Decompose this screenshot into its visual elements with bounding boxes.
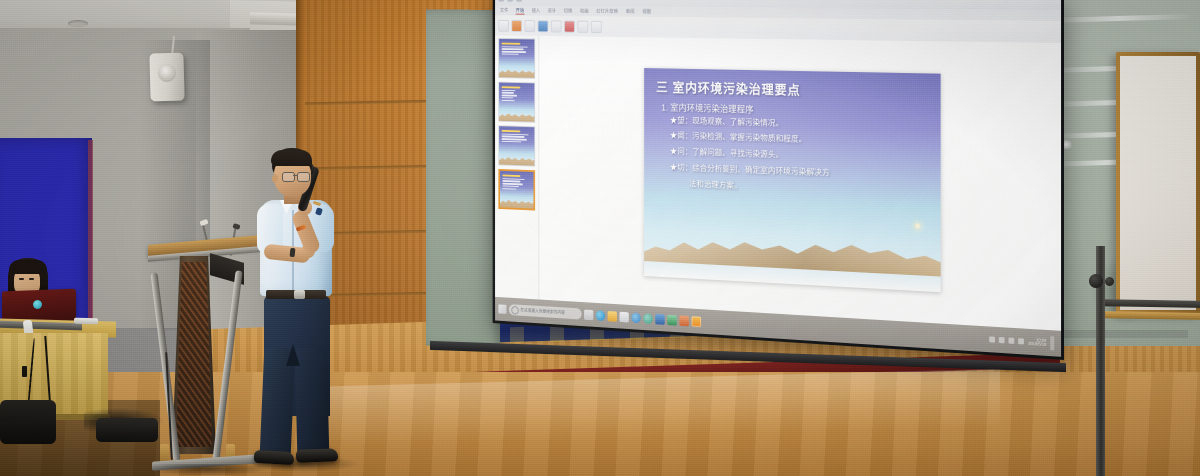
search-icon bbox=[511, 306, 518, 315]
excel-icon[interactable] bbox=[667, 314, 676, 325]
powerpoint-icon[interactable] bbox=[679, 315, 689, 326]
presenter-shoe-left bbox=[254, 450, 295, 465]
font-button[interactable] bbox=[538, 20, 549, 32]
equipment-bag bbox=[0, 400, 56, 444]
mobile-whiteboard[interactable] bbox=[1116, 52, 1200, 314]
search-input[interactable]: 在这里输入你要搜索的内容 bbox=[509, 304, 582, 320]
app-icon[interactable] bbox=[643, 313, 652, 324]
edge-icon[interactable] bbox=[596, 310, 605, 321]
search-placeholder: 在这里输入你要搜索的内容 bbox=[520, 307, 565, 315]
tab-insert[interactable]: 插入 bbox=[532, 7, 541, 13]
store-icon[interactable] bbox=[619, 311, 628, 322]
operator-hairline bbox=[9, 260, 47, 274]
screen-unlit-area bbox=[426, 9, 500, 350]
thumbnail-text bbox=[502, 175, 531, 191]
slide-subtitle: 1. 室内环境污染治理程序 bbox=[661, 100, 753, 116]
thumbnail-text bbox=[502, 86, 532, 101]
floor-equipment bbox=[96, 418, 158, 442]
thumbnail-mountain-graphic bbox=[499, 110, 534, 122]
volume-icon[interactable] bbox=[1009, 338, 1015, 344]
slide-thumbnail[interactable] bbox=[498, 125, 535, 166]
new-slide-button[interactable] bbox=[511, 20, 522, 32]
word-icon[interactable] bbox=[655, 313, 664, 324]
presenter-shoe-right bbox=[296, 448, 338, 462]
glasses-lens-right bbox=[297, 172, 310, 182]
whiteboard-height-knob[interactable] bbox=[1089, 274, 1103, 288]
paragraph-button[interactable] bbox=[551, 20, 562, 32]
whiteboard-lock-knob[interactable] bbox=[1105, 277, 1114, 286]
editing-button[interactable] bbox=[591, 20, 602, 32]
lecture-hall-photo: 文件 开始 插入 设计 切换 动画 幻灯片放映 审阅 视图 bbox=[0, 0, 1200, 476]
glasses-icon bbox=[282, 172, 310, 180]
tab-home[interactable]: 开始 bbox=[516, 7, 525, 14]
presenter bbox=[246, 148, 372, 468]
presenter-hairline bbox=[271, 150, 312, 166]
screen-frame: 文件 开始 插入 设计 切换 动画 幻灯片放映 审阅 视图 bbox=[493, 0, 1064, 360]
paste-button[interactable] bbox=[498, 19, 509, 31]
slide-thumbnail[interactable] bbox=[498, 82, 535, 123]
presenter-remote[interactable] bbox=[74, 318, 98, 325]
laptop-logo-icon bbox=[33, 300, 42, 309]
presenter-ear bbox=[272, 174, 278, 183]
slide-bullet-list: ★望：现场观察、了解污染情况。 ★闻：污染检测、掌握污染物质和程度。 ★问：了解… bbox=[670, 115, 928, 199]
show-desktop-button[interactable] bbox=[1050, 336, 1054, 350]
cable-clip bbox=[22, 366, 27, 377]
redo-icon[interactable] bbox=[516, 0, 522, 2]
taskbar-clock[interactable]: 10:04 2019/5/19 bbox=[1028, 337, 1046, 347]
slide-thumbnail[interactable] bbox=[498, 38, 535, 79]
speaker-cone-icon bbox=[158, 64, 176, 82]
slide-thumbnail-pane[interactable] bbox=[495, 35, 539, 299]
projection-screen[interactable]: 文件 开始 插入 设计 切换 动画 幻灯片放映 审阅 视图 bbox=[493, 0, 1064, 364]
thumbnail-mountain-graphic bbox=[499, 66, 534, 78]
slide-bullet-continuation: 法和治理方案。 bbox=[689, 178, 928, 199]
presenter-leg-right bbox=[295, 348, 330, 459]
lectern-leg bbox=[212, 270, 242, 461]
layout-button[interactable] bbox=[524, 20, 535, 32]
mail-icon[interactable] bbox=[631, 312, 640, 323]
file-explorer-icon[interactable] bbox=[608, 311, 617, 322]
task-view-icon[interactable] bbox=[584, 309, 593, 320]
slide-bullet: ★望：现场观察、了解污染情况。 bbox=[670, 115, 928, 132]
projected-desktop[interactable]: 文件 开始 插入 设计 切换 动画 幻灯片放映 审阅 视图 bbox=[495, 0, 1061, 357]
save-icon[interactable] bbox=[498, 0, 504, 2]
chevron-up-icon[interactable] bbox=[990, 336, 996, 342]
shapes-button[interactable] bbox=[564, 20, 575, 32]
operator-eye-right bbox=[29, 278, 34, 280]
operator-eye-left bbox=[19, 278, 24, 280]
system-tray[interactable]: 10:04 2019/5/19 bbox=[990, 332, 1058, 350]
quick-access-toolbar[interactable] bbox=[498, 0, 522, 2]
presenter-belt-buckle bbox=[294, 290, 305, 299]
current-slide[interactable]: 三 室内环境污染治理要点 1. 室内环境污染治理程序 ★望：现场观察、了解污染情… bbox=[644, 68, 941, 292]
slide-thumbnail-selected[interactable] bbox=[498, 169, 535, 211]
sun-icon bbox=[915, 223, 920, 228]
whiteboard-surface[interactable] bbox=[1120, 56, 1196, 310]
clock-date: 2019/5/19 bbox=[1028, 342, 1046, 348]
tab-review[interactable]: 审阅 bbox=[626, 8, 635, 15]
slide-bullet: ★闻：污染检测、掌握污染物质和程度。 bbox=[670, 131, 928, 149]
glasses-bridge bbox=[293, 175, 297, 176]
ceiling-vent-icon bbox=[68, 20, 88, 27]
slide-title: 三 室内环境污染治理要点 bbox=[656, 76, 931, 101]
undo-icon[interactable] bbox=[507, 0, 513, 2]
glasses-lens-left bbox=[282, 172, 295, 182]
thumbnail-text bbox=[502, 130, 532, 143]
start-button-icon[interactable] bbox=[498, 304, 506, 314]
tab-transitions[interactable]: 切换 bbox=[564, 8, 573, 15]
tab-file[interactable]: 文件 bbox=[500, 7, 508, 13]
ime-icon[interactable] bbox=[1018, 338, 1024, 344]
tab-animations[interactable]: 动画 bbox=[580, 8, 589, 15]
tab-design[interactable]: 设计 bbox=[548, 8, 557, 15]
arrange-button[interactable] bbox=[577, 20, 588, 32]
tab-view[interactable]: 视图 bbox=[642, 8, 651, 15]
slide-editing-area[interactable]: 三 室内环境污染治理要点 1. 室内环境污染治理程序 ★望：现场观察、了解污染情… bbox=[539, 36, 1061, 331]
thumbnail-mountain-graphic bbox=[500, 196, 534, 208]
lectern-front-panel bbox=[176, 262, 212, 447]
thumbnail-text bbox=[502, 43, 532, 56]
tab-slideshow[interactable]: 幻灯片放映 bbox=[596, 8, 618, 15]
network-icon[interactable] bbox=[999, 337, 1005, 343]
slide-bullet: ★问：了解问题、寻找污染源头。 bbox=[670, 146, 928, 165]
thumbnail-mountain-graphic bbox=[499, 153, 534, 165]
active-app-icon[interactable] bbox=[692, 316, 702, 327]
presenter-watch bbox=[290, 248, 296, 257]
